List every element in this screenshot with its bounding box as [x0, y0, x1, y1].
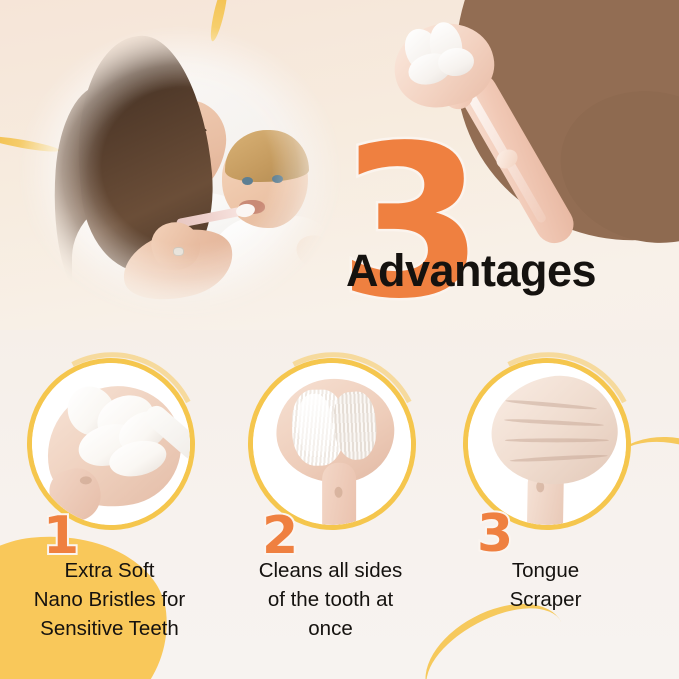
feature-3-caption: Tongue Scraper	[438, 556, 653, 614]
feature-1-caption: Extra Soft Nano Bristles for Sensitive T…	[2, 556, 217, 643]
product-infographic: 3 Advantages 1 Extra Soft Na	[0, 0, 679, 679]
feature-3-number: 3	[477, 508, 513, 560]
feature-1-number: 1	[43, 510, 79, 562]
lifestyle-photo-mother-and-baby	[10, 14, 350, 330]
feature-2-number: 2	[262, 510, 298, 562]
headline-number: 3	[338, 118, 480, 328]
feature-item-3: 3 Tongue Scraper	[438, 356, 653, 614]
feature-1-ring-accent	[0, 329, 224, 557]
feature-item-1: 1 Extra Soft Nano Bristles for Sensitive…	[2, 356, 217, 643]
feature-2-caption: Cleans all sides of the tooth at once	[223, 556, 438, 643]
headline-block: 3 Advantages	[338, 148, 668, 328]
feature-3-ring-accent	[434, 329, 660, 557]
photo-vignette	[10, 14, 350, 330]
headline-word: Advantages	[346, 248, 596, 293]
feature-3-circle: 3	[453, 356, 638, 536]
feature-2-circle: 2	[238, 356, 423, 536]
feature-2-ring-accent	[219, 329, 445, 557]
feature-item-2: 2 Cleans all sides of the tooth at once	[223, 356, 438, 643]
feature-1-circle: 1	[17, 356, 202, 536]
